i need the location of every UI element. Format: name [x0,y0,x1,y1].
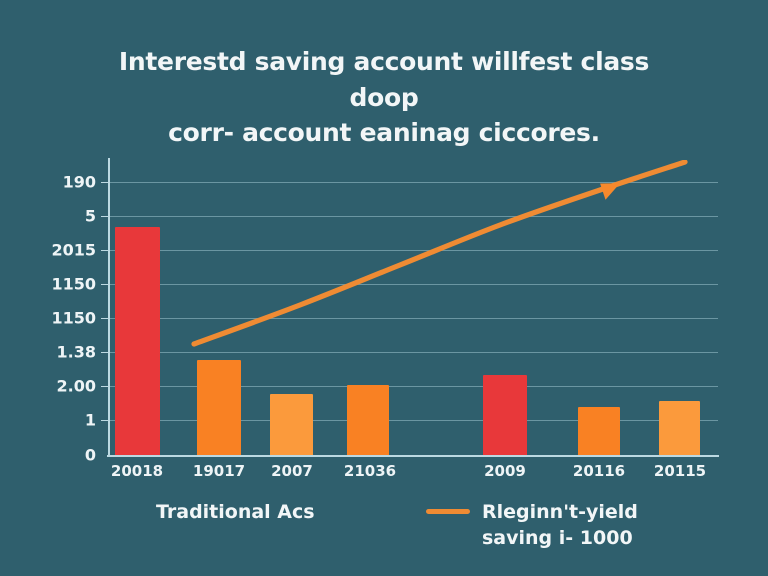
x-axis-label-5: 20116 [573,462,625,480]
bar-20018[interactable] [115,227,160,456]
chart-title-line-1: Interestd saving account willfest class … [84,44,684,115]
x-axis-line [107,455,719,457]
x-axis-label-6: 20115 [654,462,706,480]
y-tick-5 [101,352,108,353]
bar-20115[interactable] [659,401,700,457]
x-axis-label-2: 2007 [271,462,313,480]
y-tick-7 [101,420,108,421]
chart-canvas: Interestd saving account willfest class … [0,0,768,576]
bar-series [108,160,718,456]
y-tick-2 [101,250,108,251]
y-axis-label-7: 1 [85,411,96,430]
y-axis-label-2: 2015 [51,241,96,260]
y-tick-4 [101,318,108,319]
bar-2009[interactable] [483,375,527,456]
y-tick-0 [101,182,108,183]
x-axis-label-1: 19017 [193,462,245,480]
x-axis-label-0: 20018 [111,462,163,480]
y-tick-1 [101,216,108,217]
bar-20116[interactable] [578,407,620,456]
y-axis-label-1: 5 [85,207,96,226]
y-axis-line [108,158,110,457]
y-axis-label-0: 190 [63,173,96,192]
y-axis-label-8: 0 [85,446,96,465]
chart-title-line-2: corr- account eaninag ciccores. [84,115,684,151]
legend-label-line: Rleginn't-yield saving i- 1000 [482,500,638,551]
y-tick-3 [101,284,108,285]
y-axis-label-5: 1.38 [57,343,96,362]
chart-legend: Traditional Acs Rleginn't-yield saving i… [108,498,718,568]
bar-2007[interactable] [270,394,313,456]
x-axis-label-4: 2009 [484,462,526,480]
plot-area [108,160,718,456]
legend-label-bars: Traditional Acs [156,500,315,526]
bar-19017[interactable] [197,360,241,456]
y-axis-label-6: 2.00 [57,377,96,396]
y-axis-label-4: 1150 [51,309,96,328]
legend-entry-line[interactable]: Rleginn't-yield saving i- 1000 [426,500,638,551]
bar-21036[interactable] [347,385,389,456]
legend-entry-bars[interactable]: Traditional Acs [156,500,315,526]
legend-line-swatch-icon [426,509,470,514]
y-axis-labels: 190 5 2015 1150 1150 1.38 2.00 1 0 [0,0,96,576]
x-axis-label-3: 21036 [344,462,396,480]
chart-title: Interestd saving account willfest class … [84,44,684,151]
y-tick-6 [101,386,108,387]
x-axis-labels: 20018 19017 2007 21036 2009 20116 20115 [108,462,718,488]
y-axis-label-3: 1150 [51,275,96,294]
